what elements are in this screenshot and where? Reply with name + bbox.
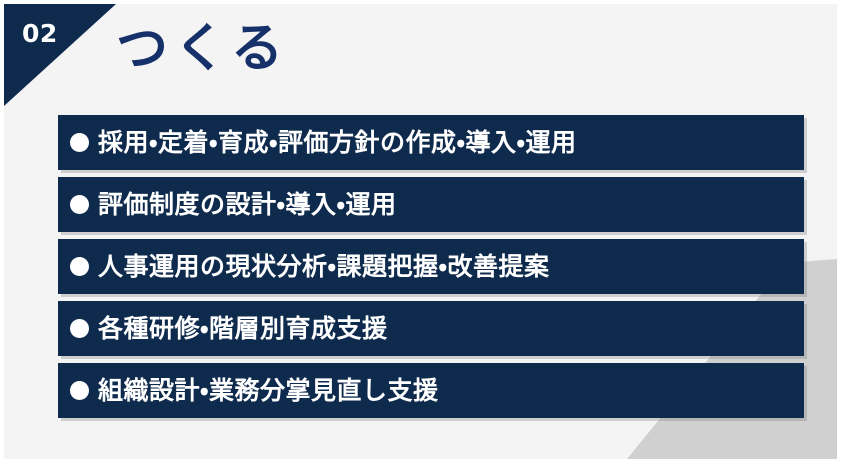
filled-circle-bullet-icon — [70, 319, 89, 338]
list-item-label: 評価制度の設計・導入・運用 — [98, 192, 397, 217]
slide-canvas: 02 つくる 採用・定着・育成・評価方針の作成・導入・運用 評価制度の設計・導入… — [4, 4, 837, 459]
section-number-corner: 02 — [4, 4, 116, 106]
list-item-label: 採用・定着・育成・評価方針の作成・導入・運用 — [98, 130, 577, 155]
list-item[interactable]: 採用・定着・育成・評価方針の作成・導入・運用 — [58, 115, 804, 170]
service-list: 採用・定着・育成・評価方針の作成・導入・運用 評価制度の設計・導入・運用 人事運… — [58, 115, 804, 418]
filled-circle-bullet-icon — [70, 195, 89, 214]
list-item[interactable]: 人事運用の現状分析・課題把握・改善提案 — [58, 239, 804, 294]
list-item[interactable]: 各種研修・階層別育成支援 — [58, 301, 804, 356]
slide-root: 02 つくる 採用・定着・育成・評価方針の作成・導入・運用 評価制度の設計・導入… — [0, 0, 841, 469]
list-item-label: 組織設計・業務分掌見直し支援 — [98, 378, 439, 403]
list-item-label: 各種研修・階層別育成支援 — [98, 316, 388, 341]
list-item[interactable]: 組織設計・業務分掌見直し支援 — [58, 363, 804, 418]
list-item[interactable]: 評価制度の設計・導入・運用 — [58, 177, 804, 232]
list-item-label: 人事運用の現状分析・課題把握・改善提案 — [98, 254, 550, 279]
filled-circle-bullet-icon — [70, 257, 89, 276]
section-number: 02 — [22, 21, 58, 46]
filled-circle-bullet-icon — [70, 133, 89, 152]
page-title: つくる — [116, 18, 289, 80]
filled-circle-bullet-icon — [70, 381, 89, 400]
